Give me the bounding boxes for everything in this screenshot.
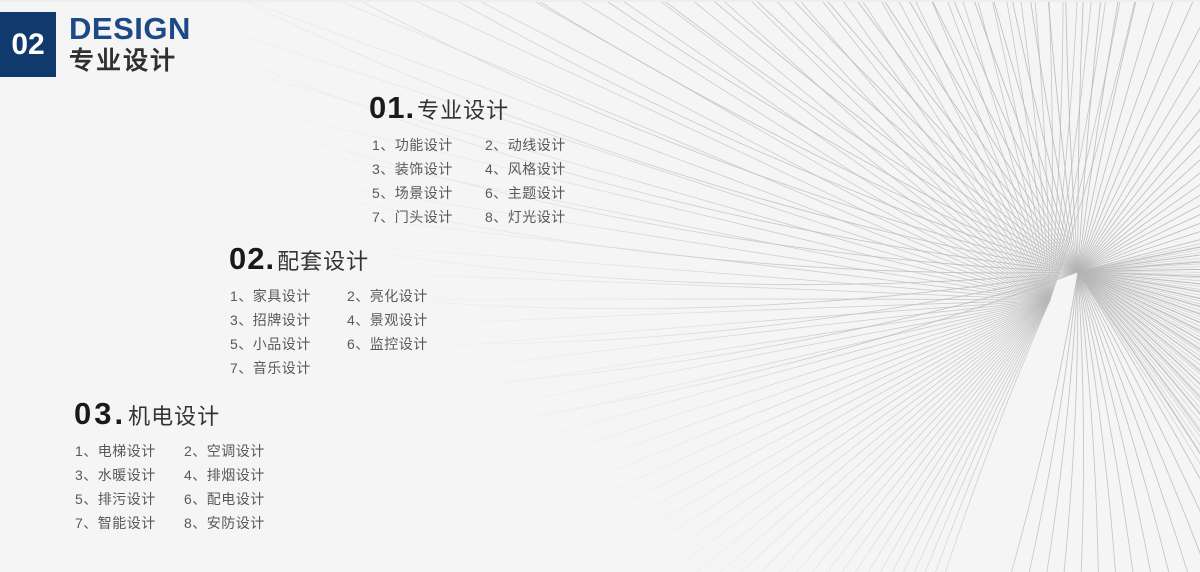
list-cell: 5、场景设计 bbox=[372, 181, 485, 205]
list-cell: 8、安防设计 bbox=[184, 511, 292, 535]
list-item: 3、水暖设计 4、排烟设计 bbox=[75, 463, 292, 487]
list-item: 5、排污设计 6、配电设计 bbox=[75, 487, 292, 511]
block-03-index: 03. bbox=[74, 398, 126, 429]
block-02-rows: 1、家具设计 2、亮化设计 3、招牌设计 4、景观设计 5、小品设计 6、监控设… bbox=[229, 284, 455, 380]
list-item: 5、场景设计 6、主题设计 bbox=[372, 181, 593, 205]
block-02-title: 02. 配套设计 bbox=[229, 243, 455, 274]
block-03-rows: 1、电梯设计 2、空调设计 3、水暖设计 4、排烟设计 5、排污设计 6、配电设… bbox=[74, 439, 292, 535]
header-title-en: DESIGN bbox=[69, 13, 191, 46]
block-01-name: 专业设计 bbox=[417, 100, 509, 122]
slide-canvas: 02 DESIGN 专业设计 01. 专业设计 1、功能设计 2、动线设计 3、… bbox=[0, 0, 1200, 572]
section-number-badge: 02 bbox=[0, 12, 56, 77]
block-03-title: 03. 机电设计 bbox=[74, 398, 292, 429]
list-cell: 7、门头设计 bbox=[372, 205, 485, 229]
list-item: 5、小品设计 6、监控设计 bbox=[230, 332, 455, 356]
list-item: 1、电梯设计 2、空调设计 bbox=[75, 439, 292, 463]
list-item: 1、家具设计 2、亮化设计 bbox=[230, 284, 455, 308]
block-01-title: 01. 专业设计 bbox=[369, 92, 593, 123]
top-divider bbox=[0, 0, 1200, 2]
list-cell: 4、景观设计 bbox=[347, 308, 455, 332]
content-block-02: 02. 配套设计 1、家具设计 2、亮化设计 3、招牌设计 4、景观设计 5、小… bbox=[229, 243, 455, 380]
header-text-group: DESIGN 专业设计 bbox=[69, 13, 191, 75]
block-01-index: 01. bbox=[369, 92, 415, 123]
list-cell: 3、招牌设计 bbox=[230, 308, 347, 332]
block-02-name: 配套设计 bbox=[277, 251, 369, 273]
header-title-cn: 专业设计 bbox=[69, 47, 191, 76]
list-item: 3、装饰设计 4、风格设计 bbox=[372, 157, 593, 181]
list-cell: 1、家具设计 bbox=[230, 284, 347, 308]
list-cell: 2、动线设计 bbox=[485, 133, 593, 157]
list-item: 7、门头设计 8、灯光设计 bbox=[372, 205, 593, 229]
list-cell: 1、功能设计 bbox=[372, 133, 485, 157]
list-cell: 4、排烟设计 bbox=[184, 463, 292, 487]
list-item: 7、智能设计 8、安防设计 bbox=[75, 511, 292, 535]
list-cell: 5、小品设计 bbox=[230, 332, 347, 356]
list-cell: 1、电梯设计 bbox=[75, 439, 184, 463]
block-01-rows: 1、功能设计 2、动线设计 3、装饰设计 4、风格设计 5、场景设计 6、主题设… bbox=[369, 133, 593, 229]
list-cell: 2、空调设计 bbox=[184, 439, 292, 463]
content-block-01: 01. 专业设计 1、功能设计 2、动线设计 3、装饰设计 4、风格设计 5、场… bbox=[369, 92, 593, 229]
slide-header: 02 DESIGN 专业设计 bbox=[0, 12, 191, 77]
list-cell: 6、配电设计 bbox=[184, 487, 292, 511]
list-cell: 8、灯光设计 bbox=[485, 205, 593, 229]
list-cell: 3、装饰设计 bbox=[372, 157, 485, 181]
list-cell: 6、主题设计 bbox=[485, 181, 593, 205]
list-cell: 2、亮化设计 bbox=[347, 284, 455, 308]
block-03-name: 机电设计 bbox=[128, 406, 220, 428]
block-02-index: 02. bbox=[229, 243, 275, 274]
list-cell: 6、监控设计 bbox=[347, 332, 455, 356]
list-cell: 4、风格设计 bbox=[485, 157, 593, 181]
list-cell bbox=[347, 356, 455, 380]
content-block-03: 03. 机电设计 1、电梯设计 2、空调设计 3、水暖设计 4、排烟设计 5、排… bbox=[74, 398, 292, 535]
list-cell: 7、音乐设计 bbox=[230, 356, 347, 380]
list-cell: 5、排污设计 bbox=[75, 487, 184, 511]
list-item: 7、音乐设计 bbox=[230, 356, 455, 380]
list-cell: 3、水暖设计 bbox=[75, 463, 184, 487]
list-item: 3、招牌设计 4、景观设计 bbox=[230, 308, 455, 332]
list-cell: 7、智能设计 bbox=[75, 511, 184, 535]
list-item: 1、功能设计 2、动线设计 bbox=[372, 133, 593, 157]
